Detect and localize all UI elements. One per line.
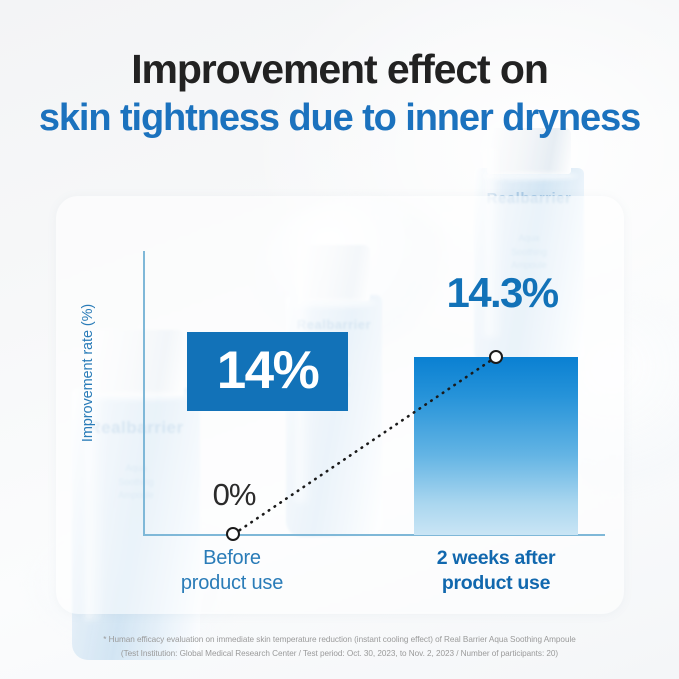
- footnote-line-1: * Human efficacy evaluation on immediate…: [0, 633, 679, 647]
- page-title: Improvement effect on skin tightness due…: [0, 45, 679, 141]
- chart-card: [56, 196, 624, 614]
- title-line-2: skin tightness due to inner dryness: [0, 96, 679, 141]
- footnote-line-2: (Test Institution: Global Medical Resear…: [0, 647, 679, 661]
- footnote: * Human efficacy evaluation on immediate…: [0, 633, 679, 661]
- title-line-1: Improvement effect on: [0, 45, 679, 93]
- bottle-neck-highlight: [481, 172, 578, 180]
- infographic-canvas: Realbarrier AquaSoothingAmpoule Realbarr…: [0, 0, 679, 679]
